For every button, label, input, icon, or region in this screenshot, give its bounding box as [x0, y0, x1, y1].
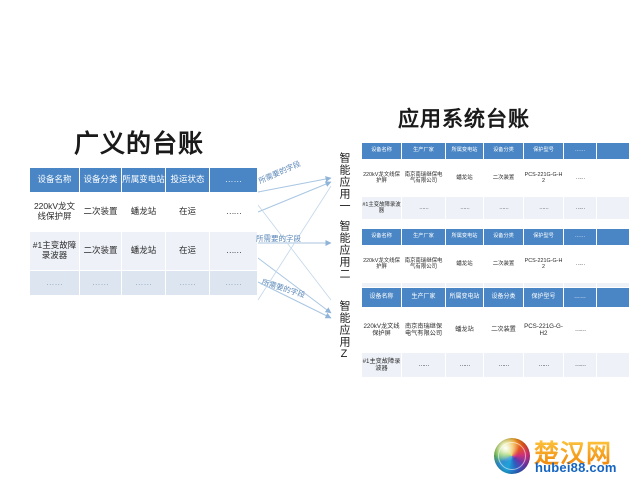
cell-more: …… — [210, 232, 258, 271]
arrow-label-required-fields-3: 所需要的字段 — [260, 276, 306, 300]
app-label-3: 智能应用Z — [336, 300, 352, 361]
cell-placeholder: …… — [210, 271, 258, 296]
column-header: 设备名称 — [30, 168, 80, 193]
column-header: …… — [564, 143, 597, 160]
column-header: 所属变电站 — [122, 168, 166, 193]
cell-more: …… — [564, 160, 597, 197]
watermark-site-url: hubei88.com — [535, 460, 617, 475]
cell-device-class: 二次装置 — [484, 160, 524, 197]
right-section-title: 应用系统台账 — [398, 103, 530, 133]
cell-substation: 蟠龙站 — [446, 160, 484, 197]
table-header-row: 设备名称 生产厂家 所属变电站 设备分类 保护型号 …… — [362, 143, 630, 160]
column-header: …… — [564, 288, 597, 308]
table-header-row: 设备名称 生产厂家 所属变电站 设备分类 保护型号 …… — [362, 229, 630, 246]
left-section-title: 广义的台账 — [74, 124, 204, 160]
column-header-empty — [597, 229, 630, 246]
column-header: 生产厂家 — [402, 288, 446, 308]
cell-model: PCS-221G-G-H2 — [524, 160, 564, 197]
column-header: 设备分类 — [80, 168, 122, 193]
cell-status: 在运 — [166, 193, 210, 232]
cell-placeholder: …… — [80, 271, 122, 296]
cell-substation: …… — [446, 353, 484, 378]
cell-empty — [597, 160, 630, 197]
column-header: 投运状态 — [166, 168, 210, 193]
cell-device-class: 二次装置 — [80, 232, 122, 271]
table-row: 220kV龙文线保护屏 南京南瑞继保电气有限公司 蟠龙站 二次装置 PCS-22… — [362, 160, 630, 197]
column-header: 设备名称 — [362, 143, 402, 160]
cell-device-name: 220kV龙文线保护屏 — [30, 193, 80, 232]
cell-more: …… — [564, 353, 597, 378]
column-header: 保护型号 — [524, 288, 564, 308]
table-row: 220kV龙文线保护屏 南京南瑞继保电气有限公司 蟠龙站 二次装置 PCS-22… — [362, 308, 630, 353]
table-header-row: 设备名称 设备分类 所属变电站 投运状态 …… — [30, 168, 258, 193]
column-header: …… — [564, 229, 597, 246]
table-row: #1主变故障录波器 …… …… …… …… …… — [362, 197, 630, 220]
cell-device-name: 220kV龙文线保护屏 — [362, 160, 402, 197]
cell-substation: …… — [446, 197, 484, 220]
cell-model: PCS-221G-G-H2 — [524, 246, 564, 283]
cell-device-class: …… — [484, 197, 524, 220]
app-ledger-table-1: 设备名称 生产厂家 所属变电站 设备分类 保护型号 …… 220kV龙文线保护屏… — [361, 142, 630, 220]
cell-substation: 蟠龙站 — [446, 246, 484, 283]
cell-device-name: 220kV龙文线保护屏 — [362, 246, 402, 283]
table-row: #1主变故障录波器 …… …… …… …… …… — [362, 353, 630, 378]
app-label-1: 智能应用一 — [336, 152, 352, 212]
table-row: 220kV龙文线保护屏 南京南瑞继保电气有限公司 蟠龙站 二次装置 PCS-22… — [362, 246, 630, 283]
column-header-empty — [597, 143, 630, 160]
cell-more: …… — [564, 197, 597, 220]
cell-empty — [597, 246, 630, 283]
app-ledger-table-3: 设备名称 生产厂家 所属变电站 设备分类 保护型号 …… 220kV龙文线保护屏… — [361, 287, 630, 378]
cell-placeholder: …… — [30, 271, 80, 296]
cell-device-name: #1主变故障录波器 — [362, 197, 402, 220]
cell-more: …… — [564, 246, 597, 283]
cell-more: …… — [564, 308, 597, 353]
cell-model: PCS-221G-G-H2 — [524, 308, 564, 353]
cell-manufacturer: 南京南瑞继保电气有限公司 — [402, 160, 446, 197]
cell-more: …… — [210, 193, 258, 232]
column-header: 设备分类 — [484, 229, 524, 246]
column-header: 设备名称 — [362, 229, 402, 246]
cell-model: …… — [524, 197, 564, 220]
arrow-label-required-fields-2: 所需要的字段 — [256, 233, 301, 244]
cell-manufacturer: …… — [402, 353, 446, 378]
cell-placeholder: …… — [122, 271, 166, 296]
broad-ledger-table: 设备名称 设备分类 所属变电站 投运状态 …… 220kV龙文线保护屏 二次装置… — [29, 167, 258, 296]
app-label-2: 智能应用二 — [336, 220, 352, 280]
column-header: 生产厂家 — [402, 143, 446, 160]
slide-canvas: 广义的台账 应用系统台账 设备名称 设备分类 所属变电站 投运状态 …… 220… — [0, 0, 640, 480]
cell-substation: 蟠龙站 — [446, 308, 484, 353]
column-header: 所属变电站 — [446, 288, 484, 308]
column-header: 所属变电站 — [446, 229, 484, 246]
cell-device-class: 二次装置 — [484, 246, 524, 283]
cell-substation: 蟠龙站 — [122, 193, 166, 232]
cell-manufacturer: 南京南瑞继保电气有限公司 — [402, 308, 446, 353]
column-header: 保护型号 — [524, 229, 564, 246]
column-header: 保护型号 — [524, 143, 564, 160]
cell-empty — [597, 197, 630, 220]
column-header: 设备名称 — [362, 288, 402, 308]
cell-device-name: #1主变故障录波器 — [362, 353, 402, 378]
cell-device-class: 二次装置 — [484, 308, 524, 353]
table-row: 220kV龙文线保护屏 二次装置 蟠龙站 在运 …… — [30, 193, 258, 232]
column-header: 设备分类 — [484, 288, 524, 308]
globe-icon — [494, 438, 530, 474]
cell-manufacturer: 南京南瑞继保电气有限公司 — [402, 246, 446, 283]
cell-placeholder: …… — [166, 271, 210, 296]
cell-empty — [597, 308, 630, 353]
column-header: 所属变电站 — [446, 143, 484, 160]
cell-manufacturer: …… — [402, 197, 446, 220]
cell-empty — [597, 353, 630, 378]
arrow-label-required-fields-1: 所需要的字段 — [257, 158, 303, 186]
column-header-empty — [597, 288, 630, 308]
table-row: …… …… …… …… …… — [30, 271, 258, 296]
cell-model: …… — [524, 353, 564, 378]
cell-device-class: …… — [484, 353, 524, 378]
column-header: 生产厂家 — [402, 229, 446, 246]
table-header-row: 设备名称 生产厂家 所属变电站 设备分类 保护型号 …… — [362, 288, 630, 308]
cell-device-class: 二次装置 — [80, 193, 122, 232]
cell-device-name: 220kV龙文线保护屏 — [362, 308, 402, 353]
table-row: #1主变故障录波器 二次装置 蟠龙站 在运 …… — [30, 232, 258, 271]
column-header: …… — [210, 168, 258, 193]
cell-substation: 蟠龙站 — [122, 232, 166, 271]
column-header: 设备分类 — [484, 143, 524, 160]
watermark-logo: 楚汉网 hubei88.com — [494, 436, 634, 476]
arrow-to-app-1 — [258, 182, 331, 212]
cell-status: 在运 — [166, 232, 210, 271]
cell-device-name: #1主变故障录波器 — [30, 232, 80, 271]
